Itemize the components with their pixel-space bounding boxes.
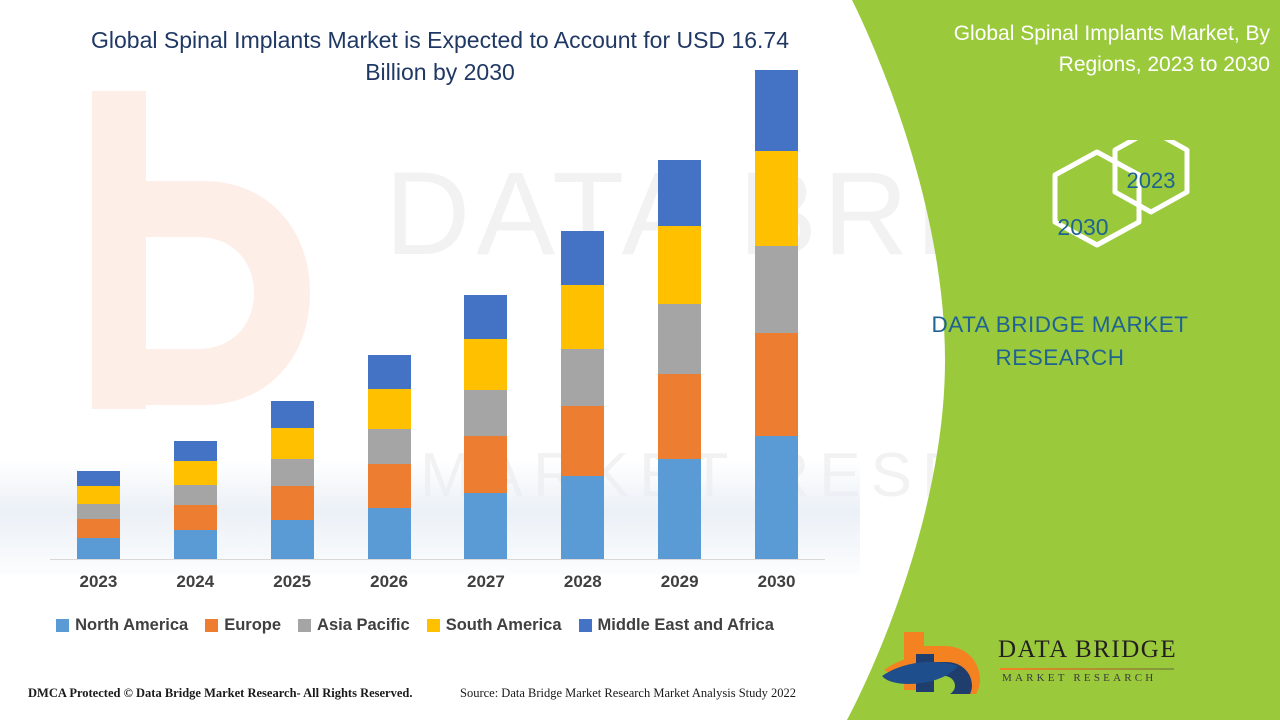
legend-swatch-icon xyxy=(579,619,592,632)
brand-name: DATA BRIDGE MARKET RESEARCH xyxy=(850,308,1270,374)
legend-label: Middle East and Africa xyxy=(598,616,774,635)
legend-label: Asia Pacific xyxy=(317,616,410,635)
bar-stack[interactable] xyxy=(77,471,120,559)
bar-segment[interactable] xyxy=(368,464,411,508)
bar-segment[interactable] xyxy=(561,476,604,559)
bar-segment[interactable] xyxy=(77,471,120,486)
bar-segment[interactable] xyxy=(561,231,604,285)
green-side-panel: Global Spinal Implants Market, By Region… xyxy=(820,0,1280,720)
bar-segment[interactable] xyxy=(368,355,411,389)
bar-group[interactable] xyxy=(252,121,332,559)
bar-segment[interactable] xyxy=(658,304,701,374)
bar-segment[interactable] xyxy=(755,436,798,559)
legend-swatch-icon xyxy=(298,619,311,632)
hexagon-group: 2023 2030 xyxy=(965,140,1265,285)
legend-item[interactable]: North America xyxy=(56,616,188,635)
dmca-footer-text: DMCA Protected © Data Bridge Market Rese… xyxy=(28,686,413,701)
bar-group[interactable] xyxy=(543,121,623,559)
x-axis-label: 2023 xyxy=(58,572,138,592)
bar-segment[interactable] xyxy=(464,436,507,492)
hex-label-2030: 2030 xyxy=(1037,214,1129,241)
x-axis-label: 2025 xyxy=(252,572,332,592)
bar-segment[interactable] xyxy=(658,374,701,459)
logo-mark-icon xyxy=(882,628,992,694)
hex-label-2023: 2023 xyxy=(1111,168,1191,194)
logo-title-text: DATA BRIDGE xyxy=(998,636,1177,664)
bar-group[interactable] xyxy=(349,121,429,559)
bar-stack[interactable] xyxy=(755,70,798,559)
bar-group[interactable] xyxy=(737,121,817,559)
source-footer-text: Source: Data Bridge Market Research Mark… xyxy=(460,686,796,701)
x-axis-label: 2028 xyxy=(543,572,623,592)
bar-segment[interactable] xyxy=(271,401,314,427)
bar-segment[interactable] xyxy=(464,390,507,436)
bar-segment[interactable] xyxy=(271,459,314,487)
bar-series-container xyxy=(50,121,825,559)
bar-group[interactable] xyxy=(446,121,526,559)
logo-subtitle-text: MARKET RESEARCH xyxy=(1002,672,1156,684)
hexagon-icon xyxy=(965,140,1265,285)
x-axis-label: 2029 xyxy=(640,572,720,592)
bar-group[interactable] xyxy=(640,121,720,559)
logo-divider xyxy=(1000,668,1174,670)
legend-label: Europe xyxy=(224,616,281,635)
bar-segment[interactable] xyxy=(561,406,604,476)
bar-segment[interactable] xyxy=(464,295,507,339)
bar-stack[interactable] xyxy=(464,295,507,559)
x-axis-label: 2024 xyxy=(155,572,235,592)
bar-segment[interactable] xyxy=(271,520,314,559)
green-panel-content: Global Spinal Implants Market, By Region… xyxy=(820,0,1280,720)
x-axis-label: 2026 xyxy=(349,572,429,592)
bar-stack[interactable] xyxy=(271,401,314,559)
bar-segment[interactable] xyxy=(174,461,217,485)
bar-segment[interactable] xyxy=(464,339,507,390)
bar-segment[interactable] xyxy=(174,505,217,530)
legend-item[interactable]: Europe xyxy=(205,616,281,635)
bar-stack[interactable] xyxy=(561,231,604,559)
bar-segment[interactable] xyxy=(77,486,120,504)
bar-segment[interactable] xyxy=(755,333,798,437)
bar-group[interactable] xyxy=(58,121,138,559)
panel-title: Global Spinal Implants Market, By Region… xyxy=(880,18,1270,80)
stacked-bar-chart xyxy=(50,120,825,560)
bar-segment[interactable] xyxy=(368,389,411,429)
bar-segment[interactable] xyxy=(77,519,120,538)
brand-name-line-2: RESEARCH xyxy=(850,341,1270,374)
bar-segment[interactable] xyxy=(174,530,217,559)
chart-panel: Global Spinal Implants Market is Expecte… xyxy=(0,0,860,720)
page-title: Global Spinal Implants Market is Expecte… xyxy=(60,24,820,88)
bar-stack[interactable] xyxy=(658,160,701,559)
chart-legend: North AmericaEuropeAsia PacificSouth Ame… xyxy=(0,616,830,635)
bar-segment[interactable] xyxy=(174,485,217,505)
bar-segment[interactable] xyxy=(464,493,507,559)
bar-segment[interactable] xyxy=(271,428,314,459)
data-bridge-logo: DATA BRIDGE MARKET RESEARCH xyxy=(882,628,1202,698)
bar-segment[interactable] xyxy=(755,246,798,332)
legend-label: South America xyxy=(446,616,562,635)
bar-group[interactable] xyxy=(155,121,235,559)
bar-stack[interactable] xyxy=(174,441,217,559)
bar-segment[interactable] xyxy=(755,70,798,151)
bar-segment[interactable] xyxy=(561,349,604,407)
legend-swatch-icon xyxy=(427,619,440,632)
x-axis-labels: 20232024202520262027202820292030 xyxy=(50,572,825,592)
bar-stack[interactable] xyxy=(368,355,411,559)
infographic-page: DATA BRIDGE MARKET RESEARCH Global Spina… xyxy=(0,0,1280,720)
bar-segment[interactable] xyxy=(561,285,604,349)
bar-segment[interactable] xyxy=(77,504,120,519)
x-axis-label: 2030 xyxy=(737,572,817,592)
bar-segment[interactable] xyxy=(755,151,798,246)
bar-segment[interactable] xyxy=(658,459,701,559)
legend-swatch-icon xyxy=(56,619,69,632)
bar-segment[interactable] xyxy=(658,226,701,304)
legend-item[interactable]: Middle East and Africa xyxy=(579,616,774,635)
brand-name-line-1: DATA BRIDGE MARKET xyxy=(850,308,1270,341)
bar-segment[interactable] xyxy=(271,486,314,520)
legend-label: North America xyxy=(75,616,188,635)
bar-segment[interactable] xyxy=(368,508,411,559)
legend-swatch-icon xyxy=(205,619,218,632)
bar-segment[interactable] xyxy=(368,429,411,464)
x-axis-label: 2027 xyxy=(446,572,526,592)
bar-segment[interactable] xyxy=(658,160,701,226)
x-axis-line xyxy=(50,559,825,560)
legend-item[interactable]: South America xyxy=(427,616,562,635)
legend-item[interactable]: Asia Pacific xyxy=(298,616,410,635)
bar-segment[interactable] xyxy=(174,441,217,461)
bar-segment[interactable] xyxy=(77,538,120,559)
